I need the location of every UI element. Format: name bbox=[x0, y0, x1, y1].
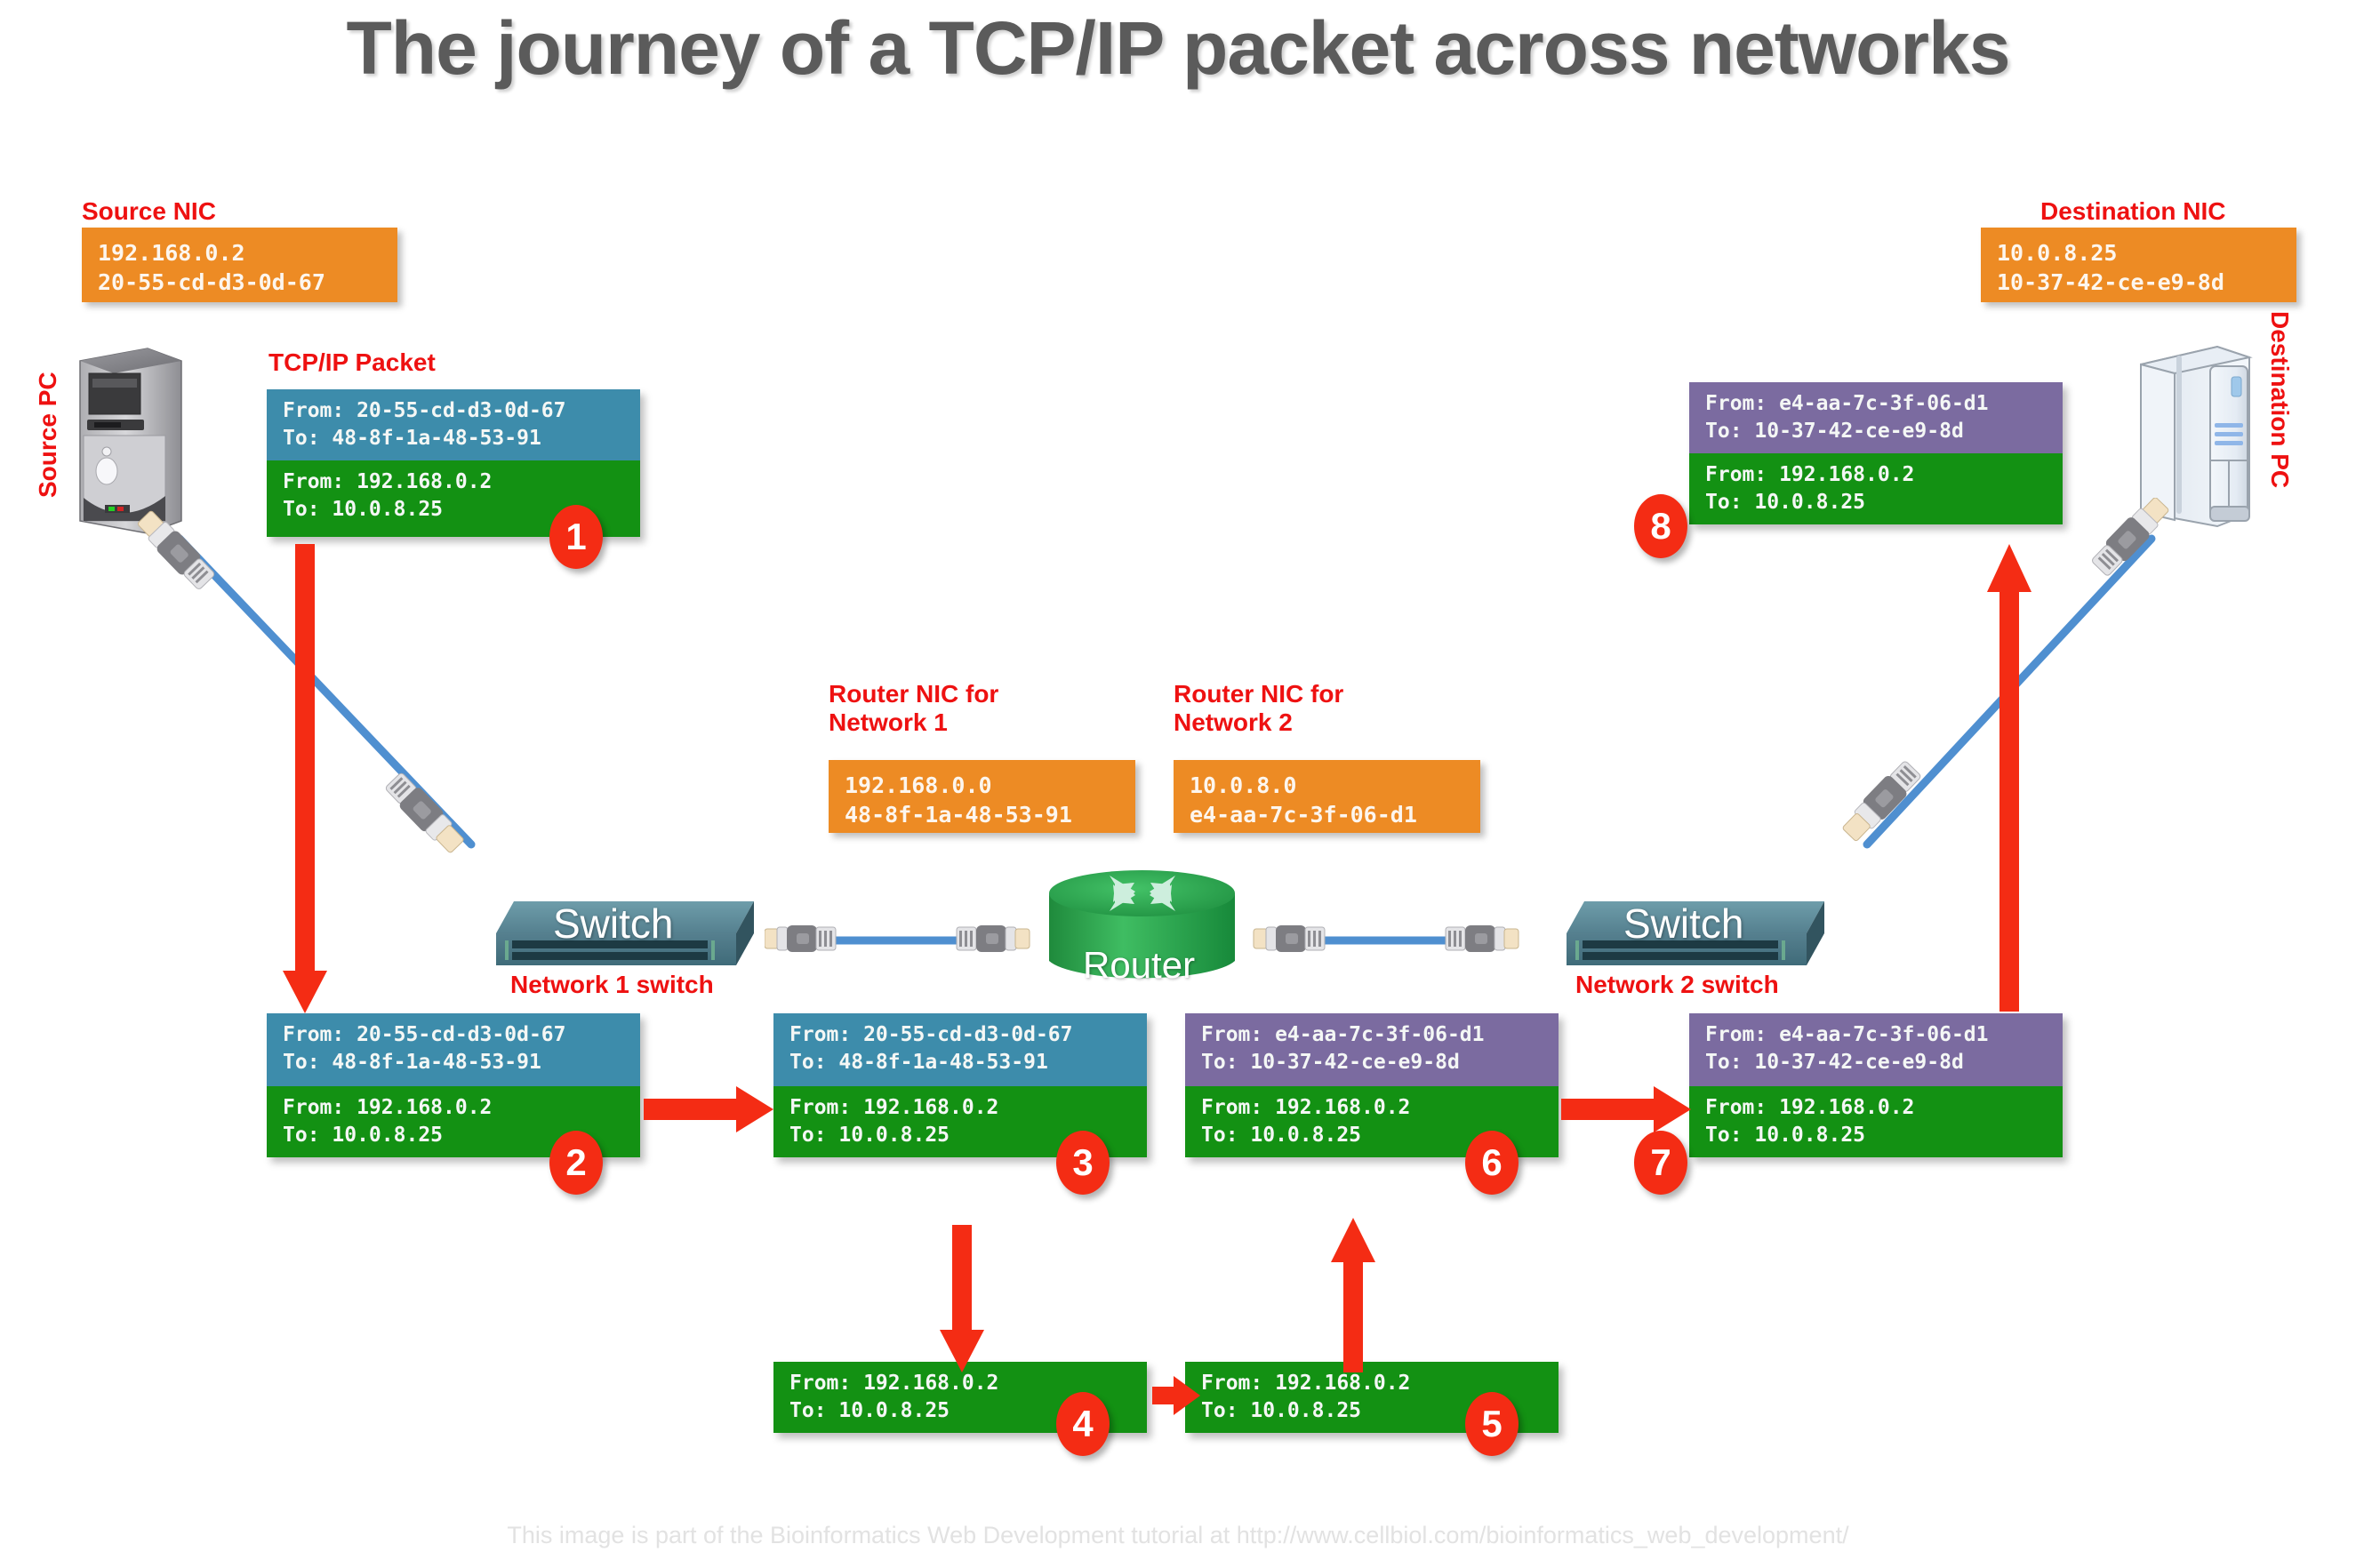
source-cable bbox=[133, 498, 560, 942]
step-badge-4: 4 bbox=[1056, 1392, 1110, 1456]
packet-1-mac-to: To: 48-8f-1a-48-53-91 bbox=[283, 425, 640, 452]
packet-7-ip-to: To: 10.0.8.25 bbox=[1705, 1122, 2063, 1149]
router-nic-1-label: Router NIC for Network 1 bbox=[829, 680, 998, 737]
source-nic-ip: 192.168.0.2 bbox=[98, 238, 397, 268]
router-switch2-cable bbox=[1245, 917, 1529, 962]
packet-3-mac-from: From: 20-55-cd-d3-0d-67 bbox=[789, 1021, 1147, 1049]
arrow-6-to-7 bbox=[1561, 1083, 1695, 1136]
arrow-1-to-2 bbox=[281, 544, 334, 1015]
arrow-7-to-8 bbox=[1985, 540, 2039, 1012]
packet-2-ip-from: From: 192.168.0.2 bbox=[283, 1094, 640, 1122]
packet-7-mac-from: From: e4-aa-7c-3f-06-d1 bbox=[1705, 1021, 2063, 1049]
step-badge-8: 8 bbox=[1634, 494, 1687, 558]
packet-3-mac-header: From: 20-55-cd-d3-0d-67 To: 48-8f-1a-48-… bbox=[773, 1013, 1147, 1086]
packet-8-mac-header: From: e4-aa-7c-3f-06-d1 To: 10-37-42-ce-… bbox=[1689, 382, 2063, 453]
packet-8-ip-from: From: 192.168.0.2 bbox=[1705, 461, 2063, 489]
step-badge-1: 1 bbox=[549, 505, 603, 569]
source-nic-label: Source NIC bbox=[82, 197, 216, 226]
source-pc-label: Source PC bbox=[34, 372, 62, 498]
step-badge-5: 5 bbox=[1465, 1392, 1519, 1456]
step-badge-3: 3 bbox=[1056, 1131, 1110, 1195]
packet-7-mac-to: To: 10-37-42-ce-e9-8d bbox=[1705, 1049, 2063, 1076]
step-badge-7: 7 bbox=[1634, 1131, 1687, 1195]
packet-1-mac-header: From: 20-55-cd-d3-0d-67 To: 48-8f-1a-48-… bbox=[267, 389, 640, 460]
router-nic-1-mac: 48-8f-1a-48-53-91 bbox=[845, 800, 1135, 829]
switch-1-word: Switch bbox=[553, 900, 673, 948]
destination-nic-mac: 10-37-42-ce-e9-8d bbox=[1997, 268, 2296, 297]
source-nic-mac: 20-55-cd-d3-0d-67 bbox=[98, 268, 397, 297]
packet-7-ip-header: From: 192.168.0.2 To: 10.0.8.25 bbox=[1689, 1086, 2063, 1157]
packet-2-mac-header: From: 20-55-cd-d3-0d-67 To: 48-8f-1a-48-… bbox=[267, 1013, 640, 1086]
packet-1-ip-from: From: 192.168.0.2 bbox=[283, 468, 640, 496]
router-nic-1-box: 192.168.0.0 48-8f-1a-48-53-91 bbox=[829, 760, 1135, 833]
page-title: The journey of a TCP/IP packet across ne… bbox=[0, 5, 2356, 92]
packet-6-mac-from: From: e4-aa-7c-3f-06-d1 bbox=[1201, 1021, 1559, 1049]
step-badge-2: 2 bbox=[549, 1131, 603, 1195]
arrow-2-to-3 bbox=[644, 1083, 777, 1136]
packet-7-ip-from: From: 192.168.0.2 bbox=[1705, 1094, 2063, 1122]
router-nic-2-label: Router NIC for Network 2 bbox=[1174, 680, 1343, 737]
arrow-5-to-6 bbox=[1329, 1216, 1382, 1376]
router-word: Router bbox=[1083, 944, 1195, 987]
arrow-3-to-4 bbox=[938, 1225, 991, 1376]
packet-2-mac-to: To: 48-8f-1a-48-53-91 bbox=[283, 1049, 640, 1076]
router-nic-2-box: 10.0.8.0 e4-aa-7c-3f-06-d1 bbox=[1174, 760, 1480, 833]
packet-3-ip-from: From: 192.168.0.2 bbox=[789, 1094, 1147, 1122]
packet-7: From: e4-aa-7c-3f-06-d1 To: 10-37-42-ce-… bbox=[1689, 1013, 2063, 1157]
router-nic-1-ip: 192.168.0.0 bbox=[845, 771, 1135, 800]
packet-6-mac-header: From: e4-aa-7c-3f-06-d1 To: 10-37-42-ce-… bbox=[1185, 1013, 1559, 1086]
packet-7-mac-header: From: e4-aa-7c-3f-06-d1 To: 10-37-42-ce-… bbox=[1689, 1013, 2063, 1086]
diagram-canvas: The journey of a TCP/IP packet across ne… bbox=[0, 0, 2356, 1568]
packet-6-mac-to: To: 10-37-42-ce-e9-8d bbox=[1201, 1049, 1559, 1076]
packet-8-mac-to: To: 10-37-42-ce-e9-8d bbox=[1705, 418, 2063, 445]
router-nic-2-mac: e4-aa-7c-3f-06-d1 bbox=[1190, 800, 1480, 829]
footer-attribution: This image is part of the Bioinformatics… bbox=[0, 1522, 2356, 1549]
destination-nic-box: 10.0.8.25 10-37-42-ce-e9-8d bbox=[1981, 228, 2296, 302]
destination-nic-label: Destination NIC bbox=[2040, 197, 2225, 226]
packet-6-ip-from: From: 192.168.0.2 bbox=[1201, 1094, 1559, 1122]
destination-pc-label: Destination PC bbox=[2265, 311, 2294, 488]
network-1-switch-label: Network 1 switch bbox=[510, 971, 714, 999]
packet-3-mac-to: To: 48-8f-1a-48-53-91 bbox=[789, 1049, 1147, 1076]
packet-8-mac-from: From: e4-aa-7c-3f-06-d1 bbox=[1705, 390, 2063, 418]
switch1-router-cable bbox=[765, 917, 1049, 962]
router-nic-2-ip: 10.0.8.0 bbox=[1190, 771, 1480, 800]
destination-nic-ip: 10.0.8.25 bbox=[1997, 238, 2296, 268]
packet-2-mac-from: From: 20-55-cd-d3-0d-67 bbox=[283, 1021, 640, 1049]
tcpip-packet-label: TCP/IP Packet bbox=[268, 348, 436, 377]
source-nic-box: 192.168.0.2 20-55-cd-d3-0d-67 bbox=[82, 228, 397, 302]
network-2-switch-label: Network 2 switch bbox=[1575, 971, 1779, 999]
switch-2-word: Switch bbox=[1623, 900, 1743, 948]
step-badge-6: 6 bbox=[1465, 1131, 1519, 1195]
packet-1-mac-from: From: 20-55-cd-d3-0d-67 bbox=[283, 397, 640, 425]
arrow-4-to-5 bbox=[1152, 1374, 1202, 1417]
